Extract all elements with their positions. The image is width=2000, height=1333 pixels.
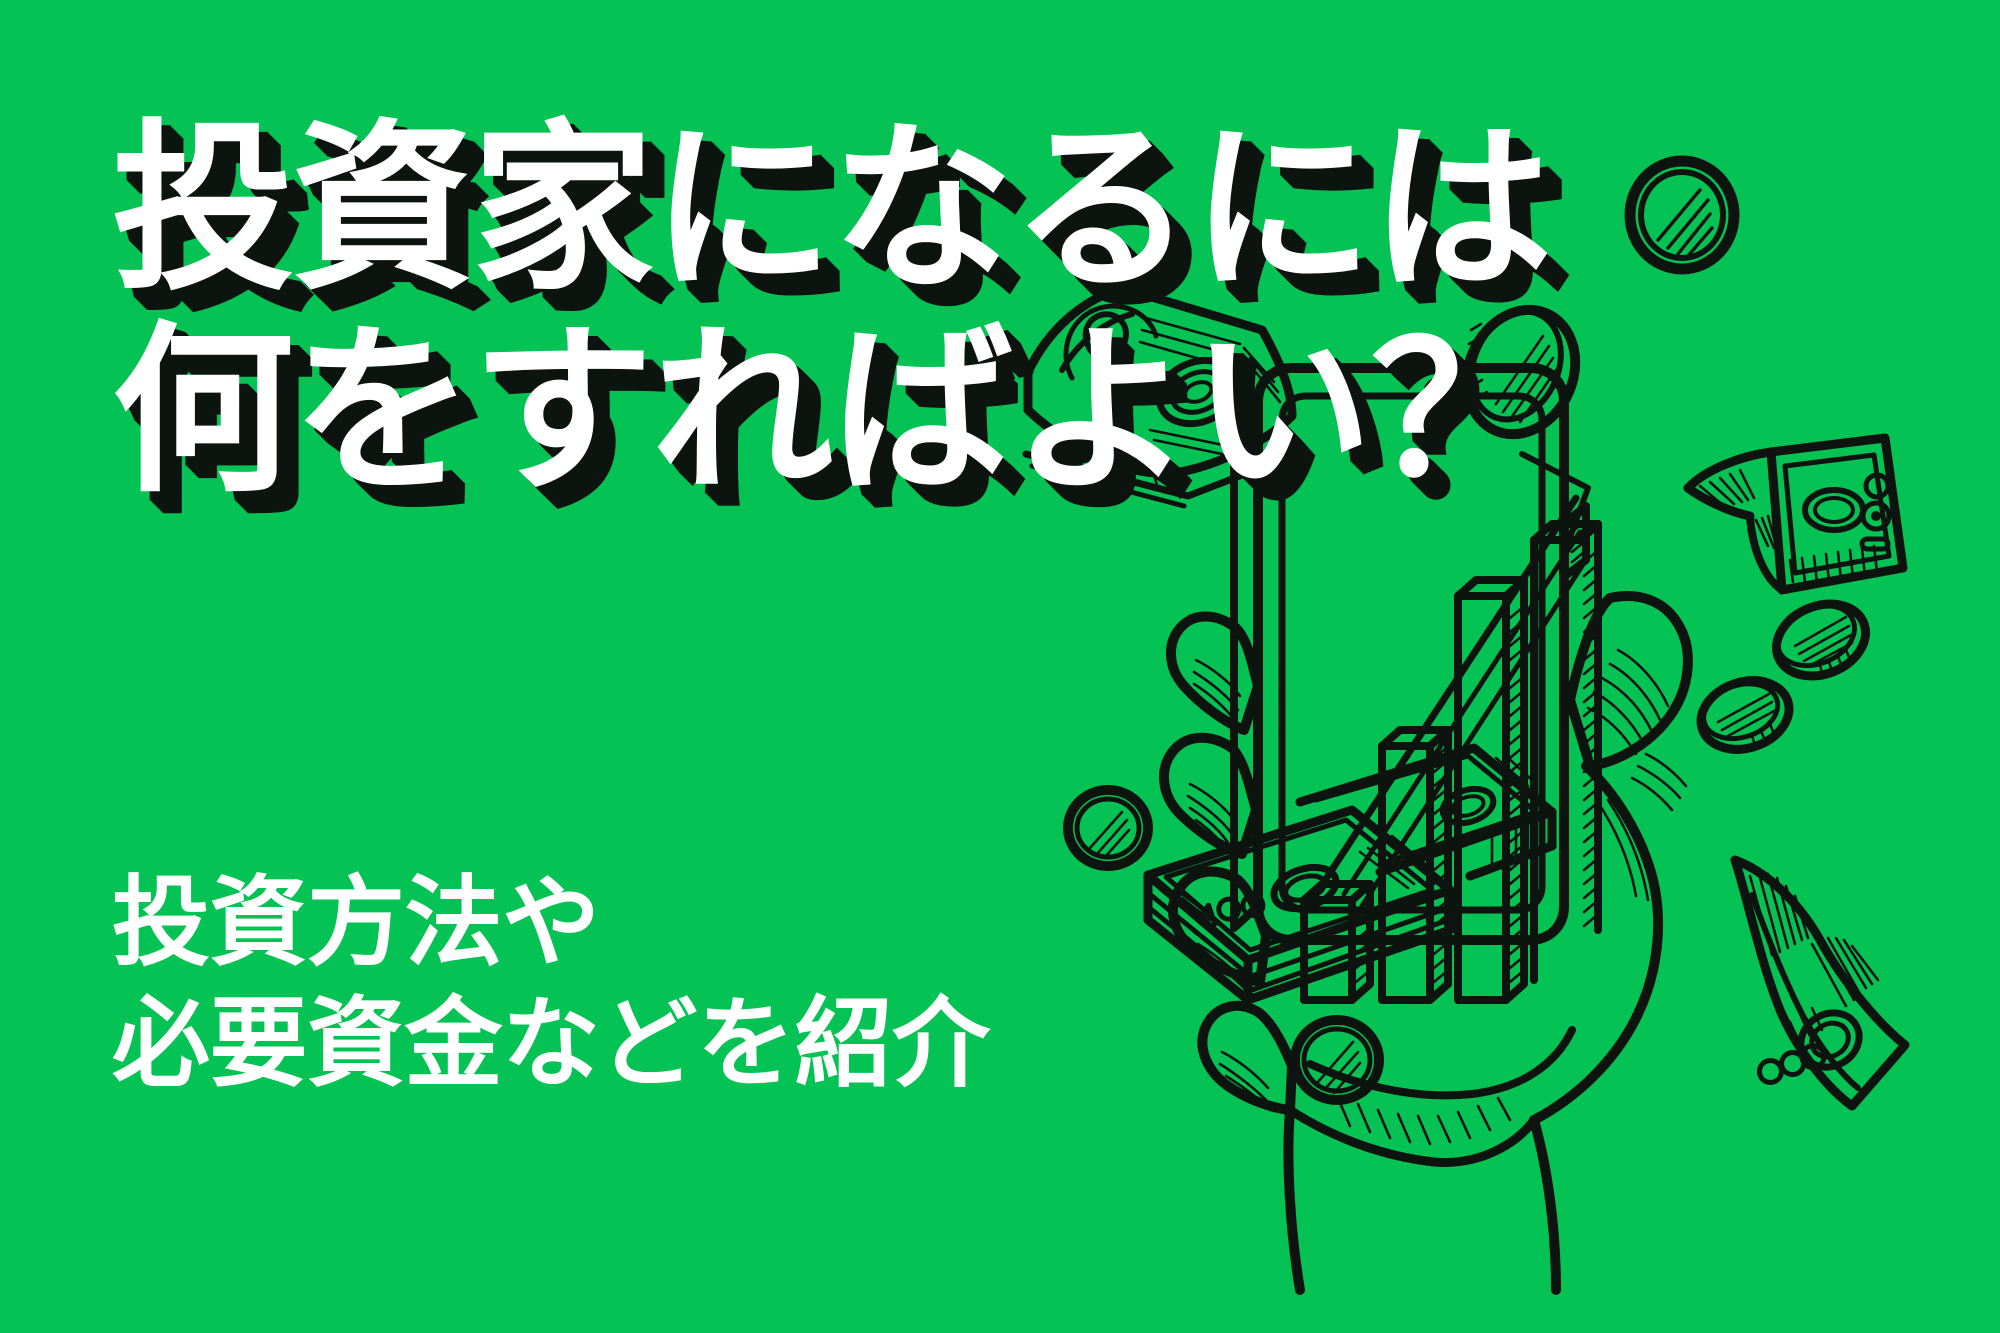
subtitle: 投資方法や 必要資金などを紹介 bbox=[112, 862, 990, 1103]
headline: 投資家になるには 何をすればよい？ bbox=[112, 108, 1551, 512]
headline-line-1: 投資家になるには bbox=[112, 108, 1551, 310]
subtitle-line-1: 投資方法や bbox=[112, 862, 990, 983]
subtitle-line-2: 必要資金などを紹介 bbox=[112, 983, 990, 1104]
banner-canvas: 投資家になるには 何をすればよい？ 投資方法や 必要資金などを紹介 bbox=[0, 0, 2000, 1333]
headline-line-2: 何をすればよい？ bbox=[112, 310, 1551, 512]
